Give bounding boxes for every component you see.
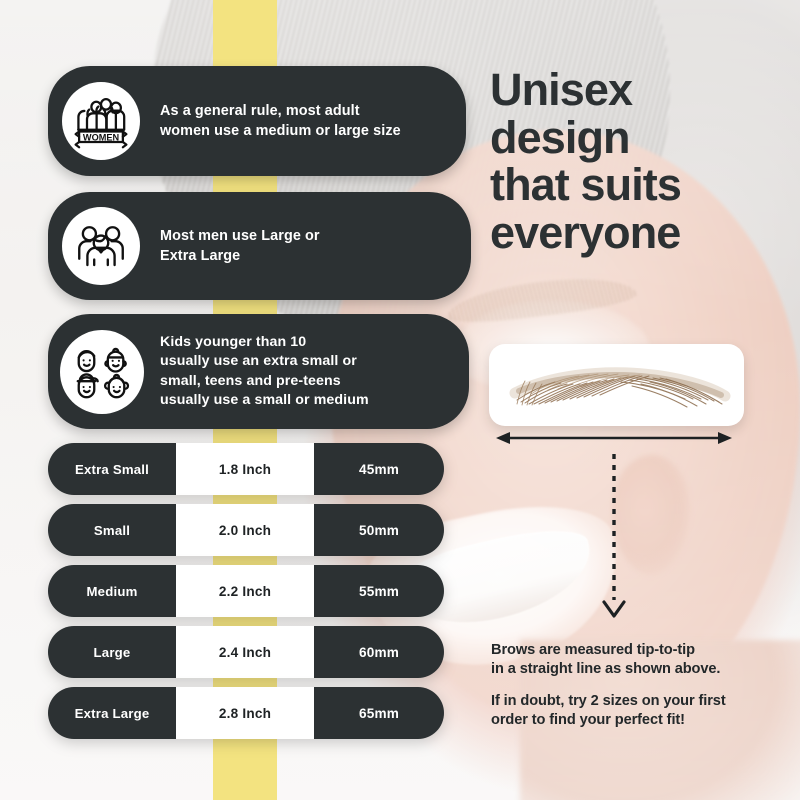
size-mm-label: 55mm [359, 584, 399, 599]
sizing-advice-note: If in doubt, try 2 sizes on your first o… [491, 692, 791, 731]
table-row: Large 2.4 Inch 60mm [48, 626, 444, 678]
size-inch-cell: 1.8 Inch [176, 443, 314, 495]
size-name-label: Extra Small [75, 462, 149, 477]
women-group-icon: WOMEN [62, 82, 140, 160]
size-inch-cell: 2.8 Inch [176, 687, 314, 739]
size-name-cell: Medium [48, 565, 176, 617]
size-name-label: Small [94, 523, 130, 538]
dashed-down-arrow [596, 452, 632, 622]
size-name-label: Medium [86, 584, 137, 599]
page-title: Unisex design that suits everyone [490, 66, 790, 257]
eyebrow-swatch [503, 360, 731, 412]
size-mm-label: 50mm [359, 523, 399, 538]
size-inch-label: 2.0 Inch [219, 523, 271, 538]
double-headed-arrow [494, 429, 734, 447]
size-name-label: Extra Large [75, 706, 150, 721]
size-mm-cell: 65mm [314, 687, 444, 739]
size-mm-cell: 55mm [314, 565, 444, 617]
table-row: Extra Small 1.8 Inch 45mm [48, 443, 444, 495]
size-name-cell: Extra Small [48, 443, 176, 495]
size-name-label: Large [94, 645, 131, 660]
info-card-women-text: As a general rule, most adult women use … [160, 101, 401, 141]
measurement-note: Brows are measured tip-to-tip in a strai… [491, 641, 791, 680]
infographic-page: WOMEN As a general rule, most adult wome… [0, 0, 800, 800]
size-inch-cell: 2.0 Inch [176, 504, 314, 556]
table-row: Small 2.0 Inch 50mm [48, 504, 444, 556]
eyebrow-sample-card [489, 344, 744, 426]
size-name-cell: Small [48, 504, 176, 556]
info-card-kids: Kids younger than 10 usually use an extr… [48, 314, 469, 429]
size-mm-label: 65mm [359, 706, 399, 721]
size-inch-cell: 2.4 Inch [176, 626, 314, 678]
table-row: Medium 2.2 Inch 55mm [48, 565, 444, 617]
info-card-women: WOMEN As a general rule, most adult wome… [48, 66, 466, 176]
size-mm-label: 60mm [359, 645, 399, 660]
men-group-icon [62, 207, 140, 285]
women-banner-label: WOMEN [83, 132, 119, 142]
table-row: Extra Large 2.8 Inch 65mm [48, 687, 444, 739]
size-inch-label: 1.8 Inch [219, 462, 271, 477]
size-inch-label: 2.8 Inch [219, 706, 271, 721]
size-mm-cell: 50mm [314, 504, 444, 556]
size-mm-cell: 60mm [314, 626, 444, 678]
size-inch-label: 2.4 Inch [219, 645, 271, 660]
size-inch-label: 2.2 Inch [219, 584, 271, 599]
size-mm-label: 45mm [359, 462, 399, 477]
size-name-cell: Large [48, 626, 176, 678]
size-name-cell: Extra Large [48, 687, 176, 739]
info-card-men-text: Most men use Large or Extra Large [160, 226, 320, 266]
size-inch-cell: 2.2 Inch [176, 565, 314, 617]
info-card-men: Most men use Large or Extra Large [48, 192, 471, 300]
kids-faces-icon [60, 330, 144, 414]
info-card-kids-text: Kids younger than 10 usually use an extr… [160, 333, 369, 410]
size-mm-cell: 45mm [314, 443, 444, 495]
